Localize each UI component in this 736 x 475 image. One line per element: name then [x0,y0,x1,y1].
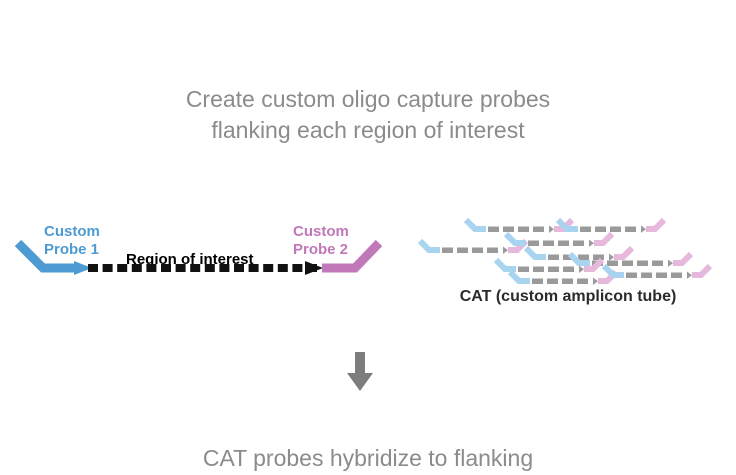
cat-dash [671,273,682,279]
region-dash [234,264,244,272]
cat-arrowhead-icon [641,226,646,233]
cat-dash [637,261,648,267]
region-dash [278,264,288,272]
cat-dash [562,279,573,285]
probe-schematic: Custom Probe 1 Custom Probe 2 Region of … [0,205,400,305]
cat-arrowhead-icon [579,266,584,273]
region-dash [103,264,113,272]
cat-arrowhead-icon [503,247,508,254]
cat-dash [580,227,591,233]
region-dash [292,264,302,272]
cat-arrowhead-icon [668,260,673,267]
custom-probe-2-icon [322,243,379,268]
cat-dash [563,267,574,273]
cat-dash [442,248,453,254]
cat-probe-blue-icon [510,272,530,281]
region-dash [205,264,215,272]
cat-arrowhead-icon [589,240,594,247]
cat-dash [622,261,633,267]
cat-amplicon-cluster [418,208,718,288]
region-dash [249,264,259,272]
region-dash [161,264,171,272]
cat-dash [607,261,618,267]
cat-probe-pink-icon [692,266,710,275]
cat-dash [626,273,637,279]
cat-dash [532,279,543,285]
cat-dash [610,227,621,233]
cat-dash [533,267,544,273]
cat-dash [472,248,483,254]
cat-arrowhead-icon [609,254,614,261]
region-dash [176,264,186,272]
cat-dash [656,273,667,279]
region-dash [117,264,127,272]
cat-dash [518,267,529,273]
bottom-caption: CAT probes hybridize to flanking [0,443,736,474]
cat-dash [577,279,588,285]
down-arrow-glyph [345,352,375,392]
cat-arrowhead-icon [593,278,598,285]
page-title: Create custom oligo capture probes flank… [0,84,736,146]
cat-probe-blue-icon [506,234,526,243]
cat-dash [533,227,544,233]
cat-arrowhead-icon [549,226,554,233]
probe-schematic-graphics [0,205,400,305]
cat-dash [595,227,606,233]
cat-dash [547,279,558,285]
cat-probe-blue-icon [526,248,546,257]
cat-dash [543,241,554,247]
cat-dash [503,227,514,233]
region-dash [219,264,229,272]
cat-caption: CAT (custom amplicon tube) [418,288,718,306]
cat-probe-pink-icon [594,234,612,243]
cat-probe-blue-icon [420,241,440,250]
cat-dash [457,248,468,254]
cat-amplicon-unit [506,234,612,247]
down-arrow-icon [345,352,375,392]
cat-dash [548,267,559,273]
cat-dash [641,273,652,279]
cat-probe-pink-icon [614,248,632,257]
cat-dash [558,241,569,247]
region-dash [132,264,142,272]
cat-dash [488,227,499,233]
cat-dash [573,241,584,247]
cat-dash [487,248,498,254]
region-dash [146,264,156,272]
cat-probe-blue-icon [466,220,486,229]
cat-probe-blue-icon [496,260,516,269]
cat-amplicon-unit [510,272,616,285]
region-dash [263,264,273,272]
cat-dash [625,227,636,233]
cat-amplicon-unit [420,241,526,254]
cat-dash [548,255,559,261]
cat-dash [518,227,529,233]
cat-probe-pink-icon [673,254,691,263]
cat-arrowhead-icon [687,272,692,279]
cat-dash [578,255,589,261]
region-dash [190,264,200,272]
custom-probe-1-icon [18,243,92,275]
cat-dash [593,255,604,261]
cat-cluster-graphics [418,208,718,288]
region-dash [88,264,98,272]
cat-amplicon-unit [604,266,710,279]
cat-dash [652,261,663,267]
cat-dash [528,241,539,247]
cat-probe-pink-icon [646,220,664,229]
diagram-canvas: Create custom oligo capture probes flank… [0,0,736,475]
region-of-interest-dashes [88,261,323,275]
